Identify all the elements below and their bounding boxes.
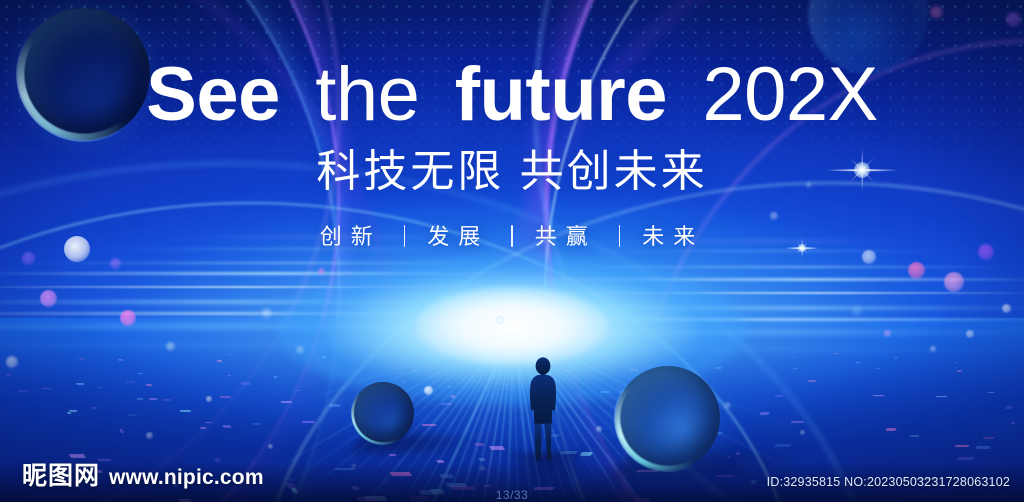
tagline-separator bbox=[619, 225, 621, 247]
subtitle-chinese: 科技无限 共创未来 bbox=[0, 148, 1024, 196]
tagline-keyword-3: 未来 bbox=[642, 219, 704, 251]
page-title: See the future 202X bbox=[0, 57, 1024, 133]
headline-word-1: the bbox=[315, 57, 419, 133]
poster-canvas: See the future 202X 科技无限 共创未来 创新发展共赢未来 昵… bbox=[0, 0, 1024, 502]
headline-word-2: future bbox=[455, 57, 667, 133]
headline-word-0: See bbox=[146, 57, 280, 133]
id-code-label: ID:32935815 NO:20230503231728063102 bbox=[767, 475, 1010, 489]
tagline-separator bbox=[404, 225, 406, 247]
tagline-keyword-2: 共赢 bbox=[535, 219, 597, 251]
page-indicator: 13/33 bbox=[0, 488, 1024, 502]
tagline-separator bbox=[511, 225, 513, 247]
watermark-url[interactable]: www.nipic.com bbox=[109, 466, 264, 490]
headline-word-3: 202X bbox=[702, 57, 878, 133]
tagline-keyword-1: 发展 bbox=[427, 219, 489, 251]
tagline-keywords: 创新发展共赢未来 bbox=[0, 219, 1024, 251]
tagline-keyword-0: 创新 bbox=[320, 219, 382, 251]
watermark[interactable]: 昵图网 www.nipic.com bbox=[22, 456, 264, 492]
watermark-site-name: 昵图网 bbox=[22, 456, 100, 492]
